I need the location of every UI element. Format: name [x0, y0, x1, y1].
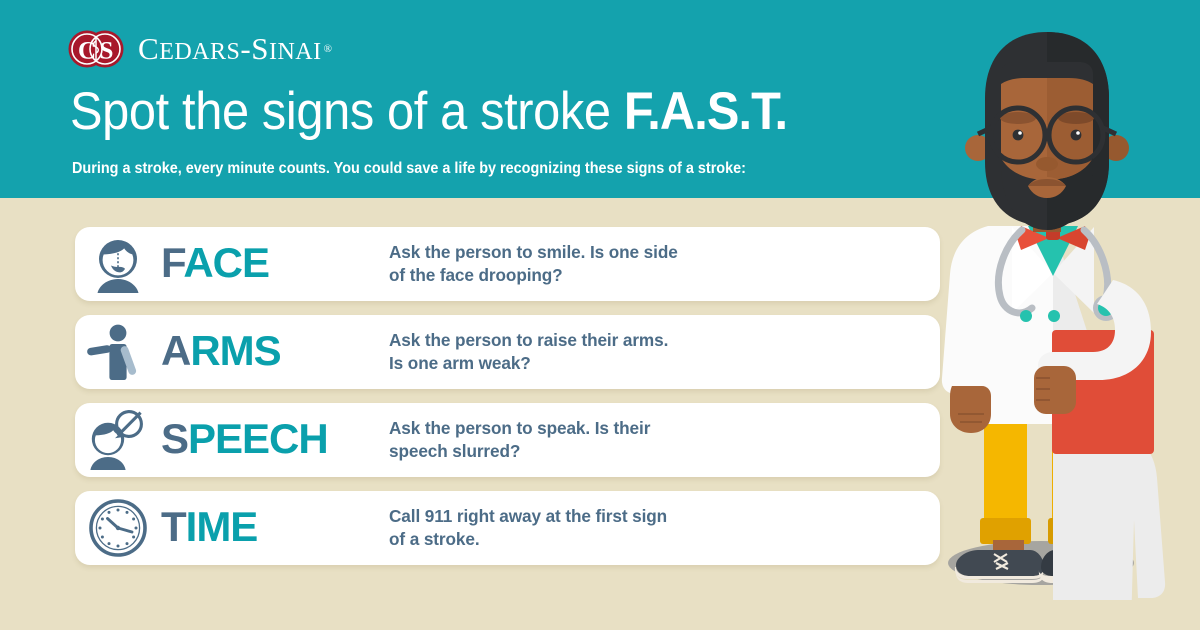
sign-description-arms: Ask the person to raise their arms. Is o…	[389, 329, 940, 375]
signs-list: FACE Ask the person to smile. Is one sid…	[75, 227, 940, 579]
desc-line-1: Ask the person to raise their arms.	[389, 329, 928, 352]
wordmark-dash: -	[240, 31, 251, 67]
sign-description-face: Ask the person to smile. Is one side of …	[389, 241, 940, 287]
desc-line-2: speech slurred?	[389, 440, 928, 463]
hand-left	[950, 386, 991, 433]
list-item-face: FACE Ask the person to smile. Is one sid…	[75, 227, 940, 301]
svg-text:S: S	[100, 38, 114, 65]
desc-line-2: Is one arm weak?	[389, 352, 928, 375]
doctor-illustration	[900, 30, 1190, 600]
svg-text:C: C	[78, 38, 96, 65]
sign-initial: S	[161, 415, 188, 462]
desc-line-2: of the face drooping?	[389, 264, 928, 287]
stroke-fast-infographic: C S CEDARS-SINAI® Spot the signs of a st…	[0, 0, 1200, 630]
sign-remainder: IME	[186, 503, 258, 550]
desc-line-1: Ask the person to speak. Is their	[389, 417, 928, 440]
brand-wordmark: CEDARS-SINAI®	[138, 31, 332, 67]
desc-line-2: of a stroke.	[389, 528, 928, 551]
page-subtitle: During a stroke, every minute counts. Yo…	[72, 160, 746, 178]
wordmark-s: S	[251, 31, 269, 67]
desc-line-1: Call 911 right away at the first sign	[389, 505, 928, 528]
no-speech-bubble-icon	[75, 410, 161, 470]
sign-remainder: RMS	[190, 327, 280, 374]
page-title-emphasis: F.A.S.T.	[624, 82, 787, 141]
raised-arms-icon	[75, 324, 161, 380]
head	[978, 32, 1116, 230]
hand-holding-clipboard	[1034, 366, 1076, 414]
sign-initial: T	[161, 503, 186, 550]
list-item-speech: SPEECH Ask the person to speak. Is their…	[75, 403, 940, 477]
sign-initial: A	[161, 327, 190, 374]
drooping-face-icon	[75, 235, 161, 293]
sign-description-speech: Ask the person to speak. Is their speech…	[389, 417, 940, 463]
cedars-sinai-logo-icon: C S	[68, 29, 124, 69]
sign-word-face: FACE	[161, 242, 389, 287]
stethoscope-ear-tip-left	[1020, 310, 1032, 322]
sign-description-time: Call 911 right away at the first sign of…	[389, 505, 940, 551]
list-item-time: TIME Call 911 right away at the first si…	[75, 491, 940, 565]
clock-icon	[75, 499, 161, 557]
page-title-main: Spot the signs of a stroke	[70, 82, 624, 141]
sign-word-speech: SPEECH	[161, 418, 389, 463]
wordmark-inai: INAI	[269, 39, 322, 66]
registered-trademark-icon: ®	[324, 43, 333, 55]
desc-line-1: Ask the person to smile. Is one side	[389, 241, 928, 264]
brand-logo: C S CEDARS-SINAI®	[68, 29, 332, 69]
stethoscope-ear-tip-right	[1048, 310, 1060, 322]
sign-remainder: ACE	[183, 239, 269, 286]
wordmark-edars: EDARS	[159, 39, 240, 66]
sign-initial: F	[161, 239, 183, 286]
wordmark-c: C	[138, 31, 159, 67]
sign-remainder: PEECH	[188, 415, 328, 462]
sign-word-arms: ARMS	[161, 330, 389, 375]
sign-word-time: TIME	[161, 506, 389, 551]
page-title: Spot the signs of a stroke F.A.S.T.	[70, 85, 787, 138]
list-item-arms: ARMS Ask the person to raise their arms.…	[75, 315, 940, 389]
